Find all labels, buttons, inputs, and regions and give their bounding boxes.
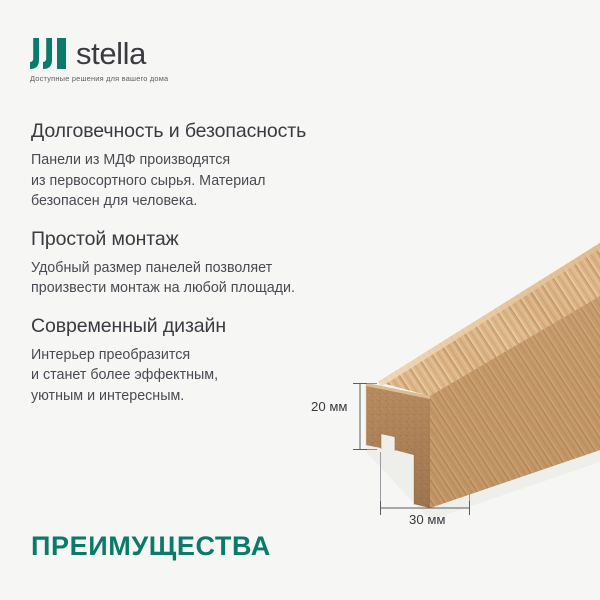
- feature-body-line: Удобный размер панелей позволяет: [31, 258, 401, 279]
- feature-body-line: произвести монтаж на любой площади.: [31, 278, 401, 299]
- feature-body-line: Интерьер преобразится: [31, 345, 401, 366]
- brand-wordmark: stella: [76, 38, 146, 69]
- brand-tagline: Доступные решения для вашего дома: [30, 74, 290, 84]
- brand-logo[interactable]: stella Доступные решения для вашего дома: [30, 37, 290, 84]
- panel-front-face: [430, 296, 600, 508]
- feature-body: Интерьер преобразится и станет более эфф…: [31, 345, 401, 407]
- feature-body-line: из первосортного сырья. Материал: [31, 171, 401, 192]
- feature-title: Долговечность и безопасность: [31, 118, 401, 144]
- feature-body-line: Панели из МДФ производятся: [31, 150, 401, 171]
- feature-title: Современный дизайн: [31, 313, 401, 339]
- feature-body: Удобный размер панелей позволяет произве…: [31, 258, 401, 299]
- panel-shadow: [366, 434, 600, 520]
- poster-canvas: stella Доступные решения для вашего дома…: [0, 0, 600, 600]
- feature-title: Простой монтаж: [31, 226, 401, 252]
- feature-list: Долговечность и безопасность Панели из М…: [31, 118, 401, 406]
- feature-item-design: Современный дизайн Интерьер преобразится…: [31, 313, 401, 407]
- logo-row: stella: [30, 37, 290, 69]
- dimension-label-width: 30 мм: [409, 512, 445, 528]
- feature-body-line: уютным и интересным.: [31, 386, 401, 407]
- feature-item-installation: Простой монтаж Удобный размер панелей по…: [31, 226, 401, 299]
- stella-logo-mark-icon: [30, 38, 67, 69]
- panel-top-face: [378, 243, 600, 396]
- feature-body-line: и станет более эффектным,: [31, 365, 401, 386]
- footer-headline: ПРЕИМУЩЕСТВА: [31, 530, 271, 563]
- feature-body-line: безопасен для человека.: [31, 191, 401, 212]
- feature-item-durability: Долговечность и безопасность Панели из М…: [31, 118, 401, 212]
- feature-body: Панели из МДФ производятся из первосортн…: [31, 150, 401, 212]
